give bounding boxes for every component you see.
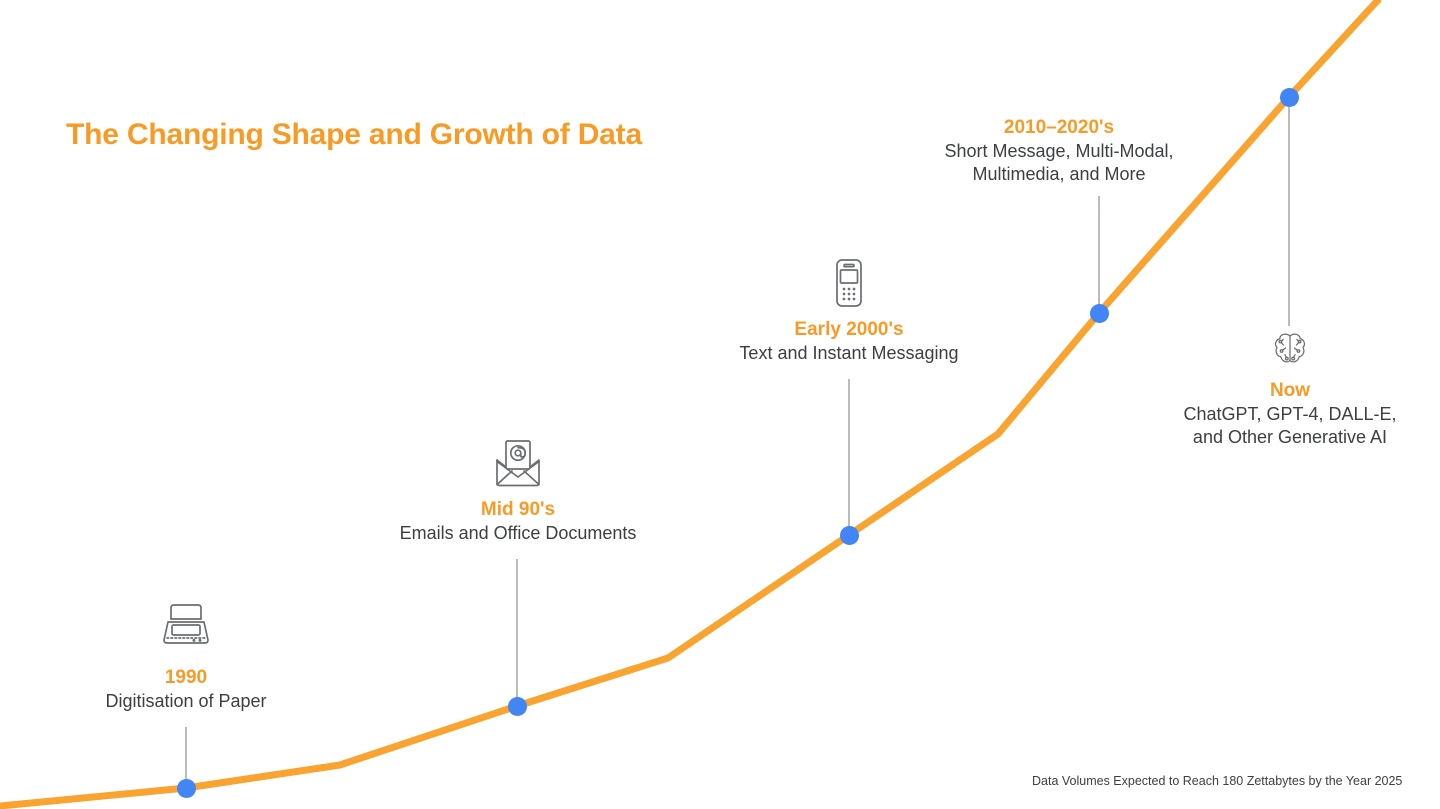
milestone-desc-label: Digitisation of Paper [105,690,266,713]
data-point-2010-2020s[interactable] [1090,304,1109,323]
page-title: The Changing Shape and Growth of Data [66,118,642,152]
infographic-canvas: The Changing Shape and Growth of Data Da… [0,0,1440,809]
milestone-2010-2020s: 2010–2020's Short Message, Multi-Modal, … [944,116,1173,187]
mobile-phone-icon [830,258,868,308]
milestone-desc-label: ChatGPT, GPT-4, DALL-E, and Other Genera… [1183,403,1396,450]
milestone-mid-90s: Mid 90's Emails and Office Documents [400,498,637,545]
connector-line-now [1288,106,1290,326]
connector-line-early-2000s [848,379,850,529]
milestone-era-label: Mid 90's [400,498,637,522]
milestone-desc-line1: Emails and Office Documents [400,523,637,543]
data-point-mid-90s[interactable] [508,697,527,716]
connector-line-mid-90s [516,559,518,700]
milestone-desc-line2: and Other Generative AI [1183,426,1396,449]
footnote-annotation: Data Volumes Expected to Reach 180 Zetta… [1032,774,1402,788]
milestone-1990: 1990 Digitisation of Paper [105,666,266,713]
milestone-desc-line1: Digitisation of Paper [105,691,266,711]
milestone-desc-line2: Multimedia, and More [944,163,1173,186]
data-point-1990[interactable] [177,779,196,798]
email-icon [491,438,545,490]
milestone-desc-line1: ChatGPT, GPT-4, DALL-E, [1183,404,1396,424]
connector-line-1990 [185,727,187,782]
milestone-desc-label: Emails and Office Documents [400,522,637,545]
milestone-era-label: 1990 [105,666,266,690]
milestone-era-label: Now [1183,379,1396,403]
connector-line-2010-2020s [1098,196,1100,307]
milestone-desc-label: Text and Instant Messaging [739,342,958,365]
milestone-desc-label: Short Message, Multi-Modal, Multimedia, … [944,140,1173,187]
milestone-now: Now ChatGPT, GPT-4, DALL-E, and Other Ge… [1183,379,1396,450]
milestone-early-2000s: Early 2000's Text and Instant Messaging [739,318,958,365]
milestone-era-label: Early 2000's [739,318,958,342]
milestone-era-label: 2010–2020's [944,116,1173,140]
scanner-icon [158,602,214,650]
milestone-desc-line1: Text and Instant Messaging [739,343,958,363]
data-point-early-2000s[interactable] [840,526,859,545]
milestone-desc-line1: Short Message, Multi-Modal, [944,141,1173,161]
data-point-now[interactable] [1280,88,1299,107]
brain-ai-icon [1270,330,1310,370]
